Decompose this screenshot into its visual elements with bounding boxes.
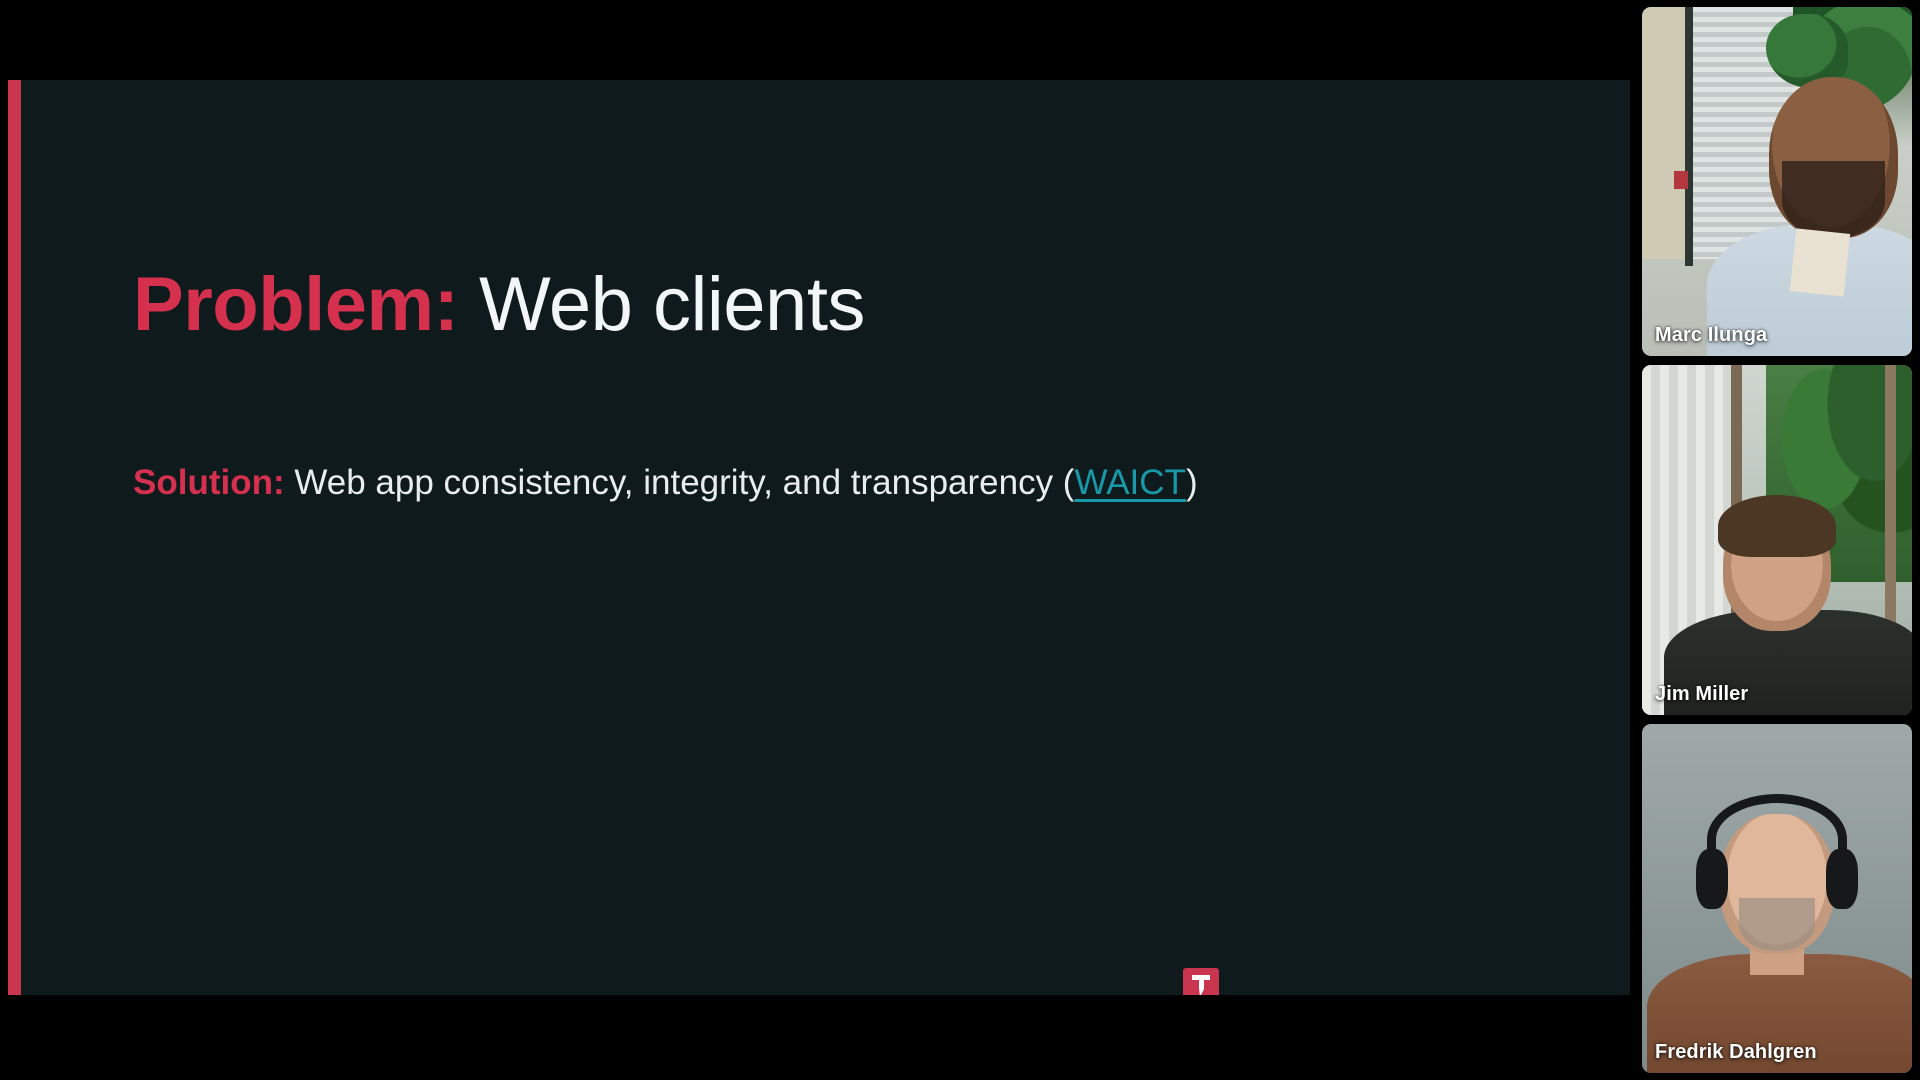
participant-video-feed <box>1642 7 1912 356</box>
video-call-screen: Problem: Web clients Solution: Web app c… <box>0 0 1920 1080</box>
video-decor <box>1790 228 1850 296</box>
slide-title-lead: Problem: <box>133 262 458 347</box>
video-decor <box>1718 495 1837 558</box>
slide-title-rest: Web clients <box>458 262 865 347</box>
video-decor <box>1739 898 1815 950</box>
video-decor <box>1782 161 1885 238</box>
headphones-icon <box>1696 849 1728 908</box>
participant-name-label: Marc Ilunga <box>1655 324 1767 347</box>
slide-content: Problem: Web clients Solution: Web app c… <box>8 80 1630 995</box>
trail-of-bits-logo <box>1183 968 1219 995</box>
participant-rail: Marc Ilunga Jim Miller <box>1642 7 1912 1073</box>
slide-subtitle-before-link: Web app consistency, integrity, and tran… <box>285 463 1075 502</box>
participant-tile-fredrik-dahlgren[interactable]: Fredrik Dahlgren <box>1642 724 1912 1073</box>
slide-title: Problem: Web clients <box>133 265 865 345</box>
participant-video-feed <box>1642 365 1912 714</box>
participant-name-label: Jim Miller <box>1655 683 1748 706</box>
participant-name-label: Fredrik Dahlgren <box>1655 1041 1817 1064</box>
video-decor <box>1685 7 1693 266</box>
slide-subtitle: Solution: Web app consistency, integrity… <box>133 462 1198 504</box>
slide-subtitle-lead: Solution: <box>133 463 285 502</box>
headphones-icon <box>1826 849 1858 908</box>
waict-link[interactable]: WAICT <box>1074 463 1185 502</box>
screen-share-slide[interactable]: Problem: Web clients Solution: Web app c… <box>8 80 1630 995</box>
video-decor <box>1674 171 1688 188</box>
video-decor <box>1642 7 1688 259</box>
slide-subtitle-after-link: ) <box>1186 463 1198 502</box>
participant-tile-marc-ilunga[interactable]: Marc Ilunga <box>1642 7 1912 356</box>
participant-video-feed <box>1642 724 1912 1073</box>
participant-tile-jim-miller[interactable]: Jim Miller <box>1642 365 1912 714</box>
